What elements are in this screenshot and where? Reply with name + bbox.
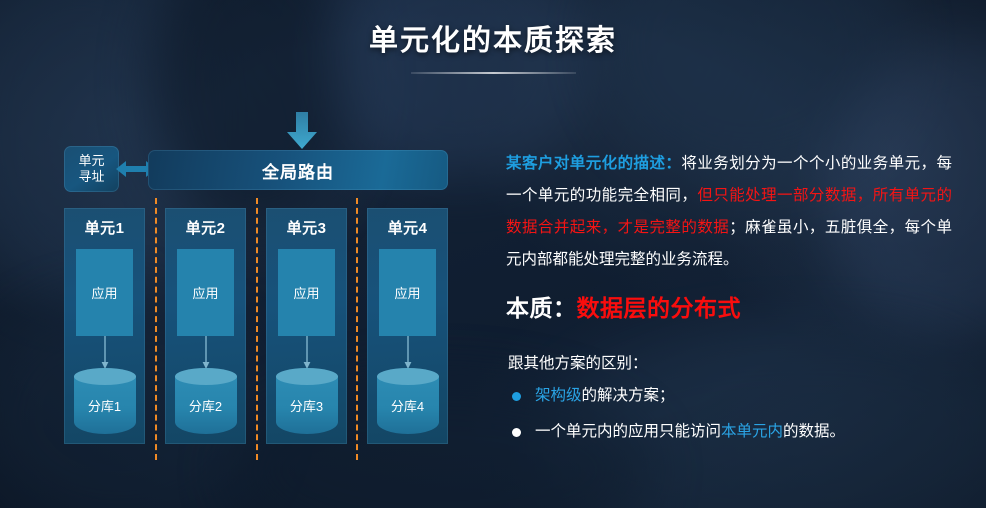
database-label: 分库1: [74, 396, 136, 415]
bullet-dot-icon: [512, 392, 521, 401]
page-title: 单元化的本质探索: [0, 26, 986, 58]
list-item-text: 一个单元内的应用只能访问本单元内的数据。: [535, 421, 845, 443]
unit-title: 单元2: [186, 217, 226, 238]
description-paragraph: 某客户对单元化的描述：将业务划分为一个个小的业务单元，每一个单元的功能完全相同，…: [506, 148, 952, 276]
unit-addressing-line1: 单元: [78, 153, 104, 169]
database-cylinder[interactable]: 分库3: [276, 368, 338, 436]
database-label: 分库2: [175, 396, 237, 415]
essence-value: 数据层的分布式: [577, 295, 742, 321]
database-cylinder[interactable]: 分库1: [74, 368, 136, 436]
unit-addressing-line2: 寻址: [78, 169, 104, 185]
unit-column[interactable]: 单元4 应用 分库4: [367, 208, 448, 444]
unit-divider: [256, 198, 258, 460]
list-item: 架构级的解决方案；: [508, 385, 948, 407]
unit-column[interactable]: 单元2 应用 分库2: [165, 208, 246, 444]
essence-heading: 本质：数据层的分布式: [506, 289, 741, 323]
list-item-rest: 的解决方案；: [582, 387, 675, 404]
comparison-bullets: 架构级的解决方案； 一个单元内的应用只能访问本单元内的数据。: [508, 385, 948, 457]
application-label: 应用: [394, 283, 420, 302]
arrow-down-small-icon: [100, 336, 110, 370]
essence-label: 本质：: [506, 295, 577, 321]
unit-addressing-box[interactable]: 单元 寻址: [64, 146, 119, 192]
unit-column[interactable]: 单元3 应用 分库3: [266, 208, 347, 444]
application-box[interactable]: 应用: [278, 249, 335, 336]
application-box[interactable]: 应用: [177, 249, 234, 336]
title-underline: [411, 72, 576, 74]
global-router-bar[interactable]: 全局路由: [148, 150, 448, 190]
bullet-dot-icon: [512, 428, 521, 437]
title-block: 单元化的本质探索: [0, 26, 986, 74]
arrow-down-icon: [286, 112, 318, 150]
unit-column[interactable]: 单元1 应用 分库1: [64, 208, 145, 444]
database-label: 分库3: [276, 396, 338, 415]
global-router-label: 全局路由: [262, 158, 334, 183]
unit-title: 单元1: [85, 217, 125, 238]
unit-divider: [155, 198, 157, 460]
description-lead: 某客户对单元化的描述：: [506, 155, 681, 172]
slide-canvas: 单元化的本质探索 单元 寻址 全: [0, 0, 986, 508]
application-box[interactable]: 应用: [379, 249, 436, 336]
list-item-rest: 的数据。: [783, 423, 845, 440]
application-label: 应用: [192, 283, 218, 302]
list-item-accent: 架构级: [535, 387, 582, 404]
application-box[interactable]: 应用: [76, 249, 133, 336]
arrow-down-small-icon: [302, 336, 312, 370]
list-item-text: 架构级的解决方案；: [535, 385, 675, 407]
application-label: 应用: [91, 283, 117, 302]
application-label: 应用: [293, 283, 319, 302]
list-item: 一个单元内的应用只能访问本单元内的数据。: [508, 421, 948, 443]
list-item-accent: 本单元内: [721, 423, 783, 440]
unit-divider: [356, 198, 358, 460]
unit-title: 单元3: [287, 217, 327, 238]
list-item-pre: 一个单元内的应用只能访问: [535, 423, 721, 440]
unit-title: 单元4: [388, 217, 428, 238]
comparison-lead: 跟其他方案的区别：: [508, 351, 648, 373]
database-cylinder[interactable]: 分库2: [175, 368, 237, 436]
database-cylinder[interactable]: 分库4: [377, 368, 439, 436]
database-label: 分库4: [377, 396, 439, 415]
arrow-down-small-icon: [201, 336, 211, 370]
arrow-down-small-icon: [403, 336, 413, 370]
